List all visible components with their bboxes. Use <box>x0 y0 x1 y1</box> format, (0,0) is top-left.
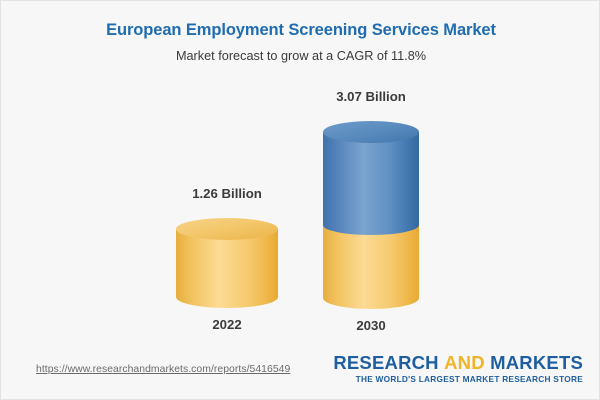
footer: https://www.researchandmarkets.com/repor… <box>1 344 600 399</box>
research-and-markets-logo[interactable]: RESEARCH AND MARKETS THE WORLD'S LARGEST… <box>333 352 583 384</box>
cylinder-2030-svg <box>323 121 419 309</box>
category-label-2030: 2030 <box>295 318 447 333</box>
logo-word-markets: MARKETS <box>490 352 583 373</box>
value-label-2030: 3.07 Billion <box>295 89 447 104</box>
bar-group-2022: 1.26 Billion <box>151 186 303 336</box>
chart-plot-area: 1.26 Billion <box>1 1 600 346</box>
category-label-2022: 2022 <box>151 317 303 332</box>
logo-tagline: THE WORLD'S LARGEST MARKET RESEARCH STOR… <box>333 374 583 384</box>
report-url-link[interactable]: https://www.researchandmarkets.com/repor… <box>36 364 290 375</box>
value-label-2022: 1.26 Billion <box>151 186 303 201</box>
bar-group-2030: 3.07 Billion <box>295 89 447 336</box>
bar-cylinder-2030 <box>323 121 419 309</box>
logo-wordmark: RESEARCH AND MARKETS <box>333 352 583 373</box>
logo-word-and: AND <box>444 352 485 373</box>
cylinder-2022-svg <box>176 218 278 308</box>
infographic-card: European Employment Screening Services M… <box>0 0 600 400</box>
bar-cylinder-2022 <box>176 218 278 308</box>
logo-word-research: RESEARCH <box>333 352 438 373</box>
